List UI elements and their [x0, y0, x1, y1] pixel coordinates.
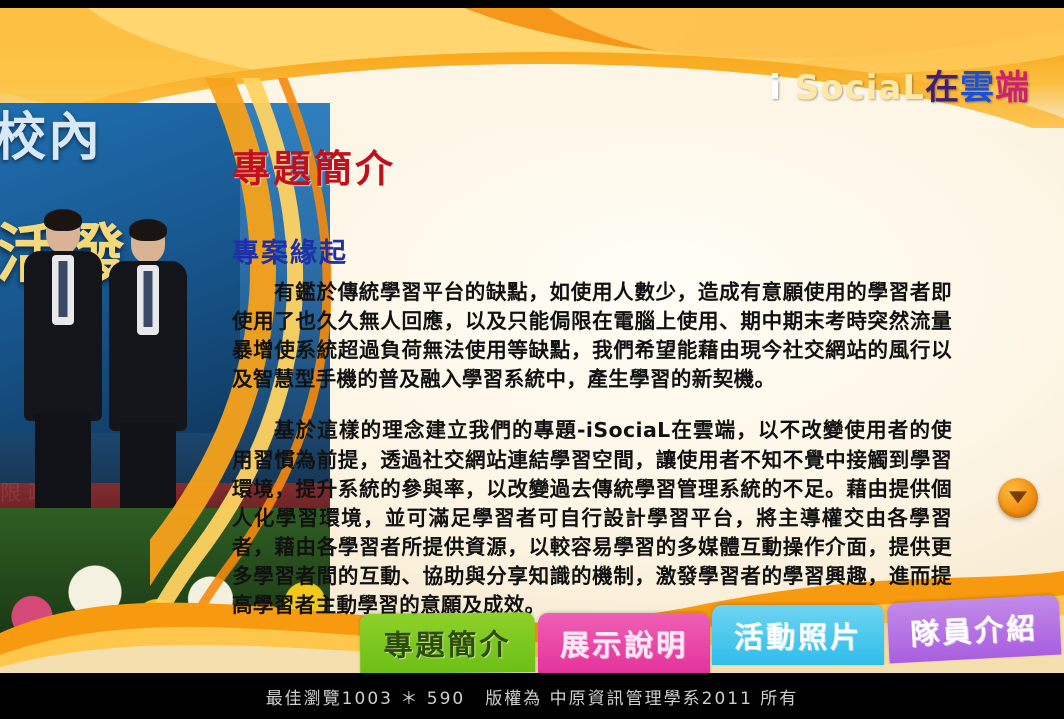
footer-copyright: 版權為 中原資訊管理學系2011 所有 [485, 684, 798, 709]
logo-part-duan: 端 [995, 68, 1030, 108]
logo-part-i: i [769, 68, 795, 108]
chevron-down-icon[interactable] [998, 478, 1038, 518]
site-logo[interactable]: i SociaL在雲端 [769, 60, 1030, 109]
main-content: 專題簡介 專案緣起 有鑑於傳統學習平台的缺點，如使用人數少，造成有意願使用的學習… [232, 138, 952, 642]
page-title: 專題簡介 [232, 138, 952, 193]
tab-project-intro[interactable]: 專題簡介 [360, 612, 536, 673]
page-root: i SociaL在雲端 校內 活潑 限 政 會務 淘 [0, 0, 1064, 719]
tab-label: 隊員介紹 [909, 605, 1039, 654]
footer-bar: 最佳瀏覽1003 ＊ 590 版權為 中原資訊管理學系2011 所有 [0, 673, 1064, 719]
tab-demo-notes[interactable]: 展示說明 [538, 613, 710, 673]
logo-part-social: SociaL [795, 68, 925, 108]
person-tie [144, 271, 153, 327]
photo-person-right [108, 223, 188, 523]
tab-label: 活動照片 [734, 614, 862, 656]
footer-resolution-note: 最佳瀏覽1003 ＊ 590 [266, 684, 466, 709]
logo-part-yun: 雲 [960, 68, 995, 108]
photo-person-left [20, 213, 106, 523]
paragraph-1: 有鑑於傳統學習平台的缺點，如使用人數少，造成有意願使用的學習者即使用了也久久無人… [232, 278, 952, 394]
logo-part-zai: 在 [925, 68, 960, 108]
paragraph-2: 基於這樣的理念建立我們的專題-iSociaL在雲端，以不改變使用者的使用習慣為前… [232, 416, 952, 620]
tab-label: 專題簡介 [383, 621, 511, 664]
section-subtitle: 專案緣起 [232, 231, 952, 270]
tab-team-intro[interactable]: 隊員介紹 [887, 595, 1062, 664]
photo-banner-line1: 校內 [0, 111, 102, 166]
slide-page: i SociaL在雲端 校內 活潑 限 政 會務 淘 [0, 8, 1064, 673]
tab-bar: 專題簡介 展示說明 活動照片 隊員介紹 [360, 591, 1060, 673]
person-hair [44, 209, 82, 231]
tab-event-photos[interactable]: 活動照片 [712, 605, 884, 665]
person-tie [59, 261, 68, 317]
tab-label: 展示說明 [560, 622, 688, 664]
person-hair [129, 219, 167, 241]
